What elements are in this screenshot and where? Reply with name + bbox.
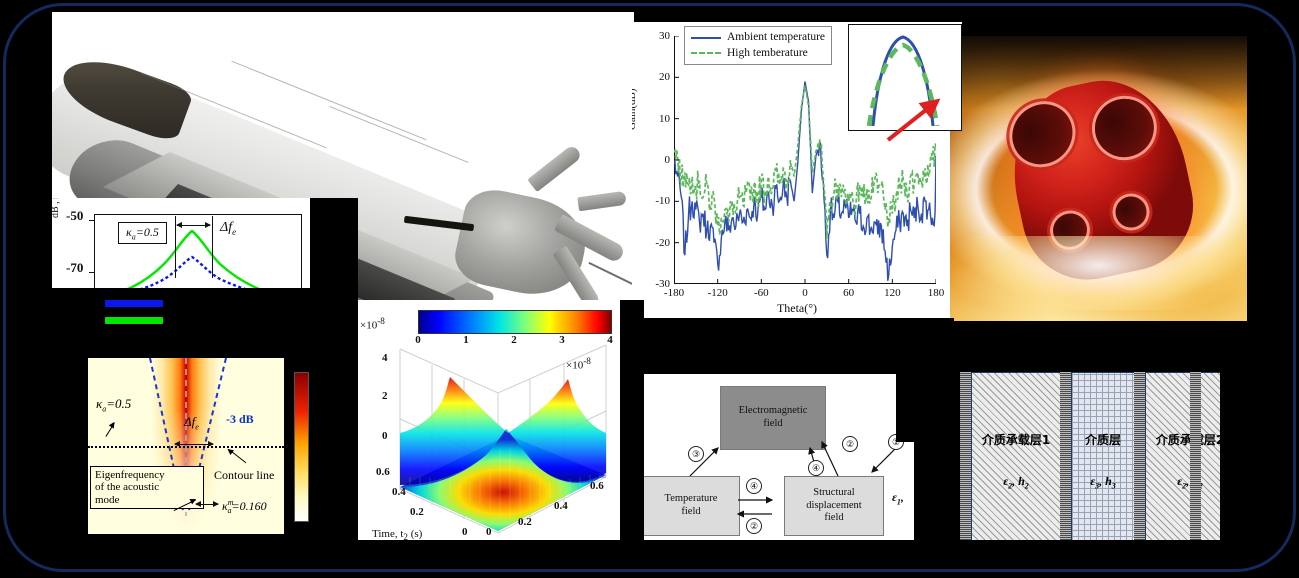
gain-ytick: -20 [655, 237, 670, 249]
block-number-3: ③ [688, 446, 704, 462]
surface-ztick-2: 2 [382, 390, 388, 402]
occluder-right-gap [914, 318, 954, 578]
gain-xtick: -180 [664, 287, 684, 299]
spectral-delta-label: Δfe [220, 220, 236, 237]
block-number-4-left: ④ [746, 478, 762, 494]
gain-legend-item-high: High temberature [691, 46, 825, 62]
vehicle-fin-upper [527, 144, 583, 192]
gain-ytick: 20 [659, 71, 670, 83]
gain-y-axis-label: Gain(dB) [632, 88, 638, 130]
occluder-left-band [0, 288, 352, 350]
surface-colorbar-multiplier: ×10-8 [360, 316, 385, 332]
capsule-port-lower-right [1111, 192, 1151, 232]
gain-xtick: -120 [708, 287, 728, 299]
gain-legend-item-ambient: Ambient temperature [691, 30, 825, 46]
surface-ytick-0: 0 [462, 526, 468, 538]
spectral-delta-arrow [177, 225, 210, 226]
contour-colorbar [294, 372, 309, 522]
surface-ztick-4: 4 [382, 352, 388, 364]
contour-line-label: Contour line [214, 468, 274, 483]
gain-xtick: 60 [843, 287, 854, 299]
gain-x-axis-label: Theta(°) [632, 301, 962, 316]
occluder-block-right [896, 362, 914, 442]
surface-z-multiplier: ×10-8 [566, 356, 591, 372]
dielectric-layer-stack-diagram: 介质承载层1 ε2, h2 介质层 ε3, h3 介质承载层2 ε2, h2 [952, 362, 1220, 560]
gain-ytick: 10 [659, 113, 670, 125]
block-diagram-arrows [642, 372, 914, 562]
vehicle-panel-line [329, 106, 468, 163]
surface-xtick-0: 0 [486, 526, 492, 538]
gain-ytick: 0 [665, 154, 671, 166]
gain-inset-pointer-arrow [884, 94, 946, 146]
surface-xtick-02: 0.2 [518, 516, 532, 528]
block-epsilon1-label: ε1, [892, 490, 904, 506]
contour-delta-label: Δfe [184, 414, 199, 432]
occluder-spec-right [310, 198, 358, 318]
contour-horizontal-dotted-line [88, 446, 284, 448]
block-number-4-right: ④ [808, 460, 824, 476]
occluder-top-margin [0, 0, 1299, 12]
gain-xtick: 0 [802, 287, 808, 299]
plasma-bright-wake [950, 236, 1247, 310]
spectral-marker-right [212, 216, 213, 278]
metal-mesh-left-outer [960, 372, 971, 548]
layer-carrier-1: 介质承载层1 ε2, h2 [971, 372, 1061, 550]
contour-kappa-m-label: κma=0.160 [222, 498, 267, 515]
surface-ytick-02: 0.2 [410, 506, 424, 518]
block-number-2-left: ② [746, 518, 762, 534]
occluder-contour-right [324, 350, 358, 562]
surface-xtick-06: 0.6 [590, 480, 604, 492]
gain-legend: Ambient temperature High temberature [684, 26, 832, 65]
reentry-capsule-plasma-photograph [950, 36, 1247, 321]
layer-carrier-2: 介质承载层2 ε2, h2 [1145, 372, 1220, 550]
metal-mesh-mid-left [1060, 372, 1071, 548]
legend-swatch-solid-icon [691, 37, 721, 39]
capsule-port-upper-right [1085, 89, 1163, 167]
legend-swatch-dashed-icon [691, 52, 721, 54]
contour-minus3db-label: -3 dB [226, 412, 254, 427]
antenna-gain-pattern-chart: Gain(dB) Theta(°) -30-20-100102030 -180-… [632, 22, 962, 320]
gain-ytick: 30 [659, 30, 670, 42]
layer-dielectric-core-params: ε3, h3 [1090, 474, 1116, 490]
gain-xtick: 120 [884, 287, 901, 299]
occluder-bottom-band [0, 540, 1299, 575]
occluder-left-margin [0, 0, 52, 575]
time-correlation-surface-plot: ×10-8 01234 [358, 300, 620, 562]
surface-colorbar [418, 310, 612, 334]
block-number-2-right: ② [842, 436, 858, 452]
layer-carrier-1-params: ε2, h2 [1003, 474, 1029, 490]
surface-ytick-04: 0.4 [392, 486, 406, 498]
spectral-legend-bar-blue [105, 300, 163, 307]
metal-mesh-right-outer [1190, 372, 1201, 548]
eigenfrequency-contour-map: κa=0.5 Δfe -3 dB Eigenfrequency of the a… [62, 350, 324, 542]
multiphysics-coupling-diagram: Electromagnetic field Temperature field … [642, 372, 914, 562]
occluder-right-margin [1247, 0, 1299, 575]
slide-canvas: dB , ref=1 ) -50 -70 κa=0.5 Δfe [0, 0, 1299, 575]
surface-ztick-0: 0 [382, 430, 388, 442]
spectral-kappa-annotation: κa=0.5 [118, 222, 167, 244]
layer-dielectric-core: 介质层 ε3, h3 [1071, 372, 1135, 550]
surface-ytick-06: 0.6 [376, 466, 390, 478]
surface-xtick-04: 0.4 [554, 500, 568, 512]
metal-mesh-mid-right [1134, 372, 1145, 548]
spectral-legend-bar-green [105, 317, 163, 324]
gain-ytick: -10 [655, 195, 670, 207]
contour-kappa-m-arrow [196, 504, 218, 505]
gain-xtick: 180 [928, 287, 945, 299]
contour-delta-arrow [175, 444, 213, 445]
contour-kappa-label: κa=0.5 [96, 396, 131, 414]
gain-xtick: -60 [754, 287, 769, 299]
